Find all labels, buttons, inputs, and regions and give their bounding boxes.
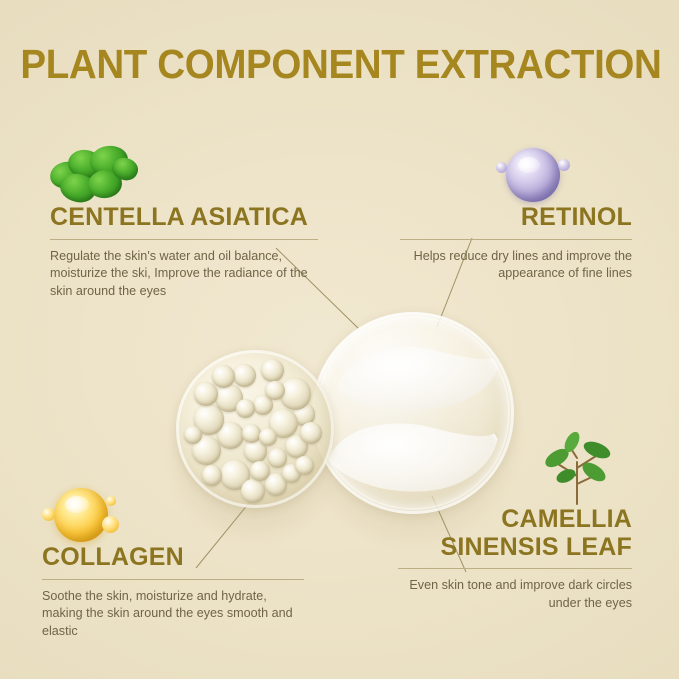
collagen-bead xyxy=(184,426,202,444)
ingredient-description: Helps reduce dry lines and improve the a… xyxy=(400,248,632,284)
collagen-bead xyxy=(268,448,288,468)
collagen-bead xyxy=(242,424,261,443)
divider xyxy=(400,239,632,240)
tea-sprig-icon xyxy=(398,432,632,506)
ingredient-name: RETINOL xyxy=(400,204,632,232)
collagen-droplet-icon xyxy=(42,486,304,544)
page-title: PLANT COMPONENT EXTRACTION xyxy=(20,44,658,85)
ingredient-description: Regulate the skin's water and oil balanc… xyxy=(50,248,318,302)
retinol-droplet-icon xyxy=(400,146,632,204)
collagen-bead xyxy=(280,378,311,409)
callout-collagen: COLLAGEN Soothe the skin, moisturize and… xyxy=(42,486,304,641)
infographic-canvas: PLANT COMPONENT EXTRACTION xyxy=(0,0,679,679)
callout-camellia-sinensis-leaf: CAMELLIA SINENSIS LEAF Even skin tone an… xyxy=(398,432,632,613)
collagen-bead xyxy=(194,382,218,406)
tea-sprig-svg xyxy=(542,432,612,506)
collagen-bead xyxy=(259,428,277,446)
jar-of-collagen-beads xyxy=(176,350,334,508)
eye-patch xyxy=(327,329,506,421)
collagen-bead xyxy=(212,365,235,388)
divider xyxy=(398,568,632,569)
ingredient-name: CENTELLA ASIATICA xyxy=(50,204,318,232)
collagen-bead xyxy=(295,456,314,475)
collagen-bead xyxy=(250,461,270,481)
callout-centella-asiatica: CENTELLA ASIATICA Regulate the skin's wa… xyxy=(50,146,318,301)
collagen-bead xyxy=(202,465,222,485)
ingredient-name-line-2: SINENSIS LEAF xyxy=(398,534,632,562)
ingredient-description: Even skin tone and improve dark circles … xyxy=(398,577,632,613)
collagen-bead xyxy=(265,381,285,401)
ingredient-name-line-1: CAMELLIA xyxy=(398,506,632,534)
callout-retinol: RETINOL Helps reduce dry lines and impro… xyxy=(400,146,632,283)
collagen-bead xyxy=(300,422,322,444)
divider xyxy=(42,579,304,580)
collagen-bead xyxy=(236,399,255,418)
ingredient-name: COLLAGEN xyxy=(42,544,304,572)
collagen-bead xyxy=(233,364,256,387)
centella-leaves-icon xyxy=(50,146,318,204)
collagen-bead xyxy=(261,359,284,382)
divider xyxy=(50,239,318,240)
ingredient-description: Soothe the skin, moisturize and hydrate,… xyxy=(42,588,304,642)
